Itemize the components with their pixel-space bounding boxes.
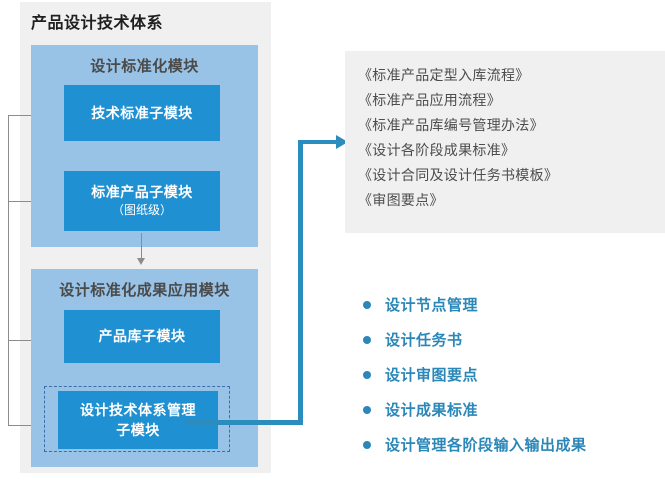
connector-panel-link bbox=[141, 233, 142, 260]
module-label: 技术标准子模块 bbox=[91, 103, 193, 123]
output-connector-horizontal-top bbox=[298, 140, 340, 144]
panel-design-standardization: 设计标准化模块 技术标准子模块 标准产品子模块 （图纸级） bbox=[31, 45, 258, 247]
module-box-standard-product[interactable]: 标准产品子模块 （图纸级） bbox=[64, 171, 220, 231]
panel-title: 设计标准化模块 bbox=[31, 55, 258, 76]
document-item: 《标准产品库编号管理办法》 bbox=[358, 113, 558, 138]
documents-panel: 《标准产品定型入库流程》《标准产品应用流程》《标准产品库编号管理办法》《设计各阶… bbox=[345, 51, 665, 233]
module-label: 标准产品子模块 bbox=[91, 182, 193, 202]
document-item: 《标准产品应用流程》 bbox=[358, 88, 558, 113]
document-item: 《标准产品定型入库流程》 bbox=[358, 63, 558, 88]
outcome-label: 设计审图要点 bbox=[385, 364, 478, 385]
bullet-dot-icon bbox=[363, 301, 371, 309]
bullet-dot-icon bbox=[363, 336, 371, 344]
module-label: 产品库子模块 bbox=[99, 326, 186, 346]
panel-title: 设计标准化成果应用模块 bbox=[31, 279, 258, 300]
outcome-label: 设计管理各阶段输入输出成果 bbox=[385, 434, 587, 455]
outcome-label: 设计节点管理 bbox=[385, 294, 478, 315]
document-item: 《设计各阶段成果标准》 bbox=[358, 138, 558, 163]
arrow-down-icon bbox=[137, 258, 145, 265]
document-item: 《设计合同及设计任务书模板》 bbox=[358, 163, 558, 188]
module-box-technical-standard[interactable]: 技术标准子模块 bbox=[64, 85, 220, 141]
outcome-label: 设计成果标准 bbox=[385, 399, 478, 420]
bullet-dot-icon bbox=[363, 406, 371, 414]
document-item: 《审图要点》 bbox=[358, 188, 558, 213]
outcome-item: 设计审图要点 bbox=[360, 357, 587, 392]
outcome-item: 设计节点管理 bbox=[360, 287, 587, 322]
outcomes-list: 设计节点管理设计任务书设计审图要点设计成果标准设计管理各阶段输入输出成果 bbox=[360, 287, 587, 462]
output-connector-horizontal-bottom bbox=[186, 420, 303, 425]
outcome-label: 设计任务书 bbox=[385, 329, 463, 350]
outcome-item: 设计成果标准 bbox=[360, 392, 587, 427]
output-connector-vertical bbox=[298, 140, 303, 425]
documents-list: 《标准产品定型入库流程》《标准产品应用流程》《标准产品库编号管理办法》《设计各阶… bbox=[358, 63, 558, 213]
module-sublabel: （图纸级） bbox=[112, 202, 172, 219]
module-box-product-library[interactable]: 产品库子模块 bbox=[64, 310, 220, 363]
diagram-canvas: 产品设计技术体系 设计标准化模块 技术标准子模块 标准产品子模块 （图纸级） 设… bbox=[0, 0, 665, 483]
outcome-item: 设计管理各阶段输入输出成果 bbox=[360, 427, 587, 462]
page-title: 产品设计技术体系 bbox=[31, 9, 163, 33]
bullet-dot-icon bbox=[363, 441, 371, 449]
connector-vertical-trunk bbox=[8, 115, 9, 426]
module-label: 设计技术体系管理子模块 bbox=[80, 400, 196, 441]
panel-standardization-application: 设计标准化成果应用模块 产品库子模块 设计技术体系管理子模块 bbox=[31, 269, 258, 467]
outcome-item: 设计任务书 bbox=[360, 322, 587, 357]
bullet-dot-icon bbox=[363, 371, 371, 379]
